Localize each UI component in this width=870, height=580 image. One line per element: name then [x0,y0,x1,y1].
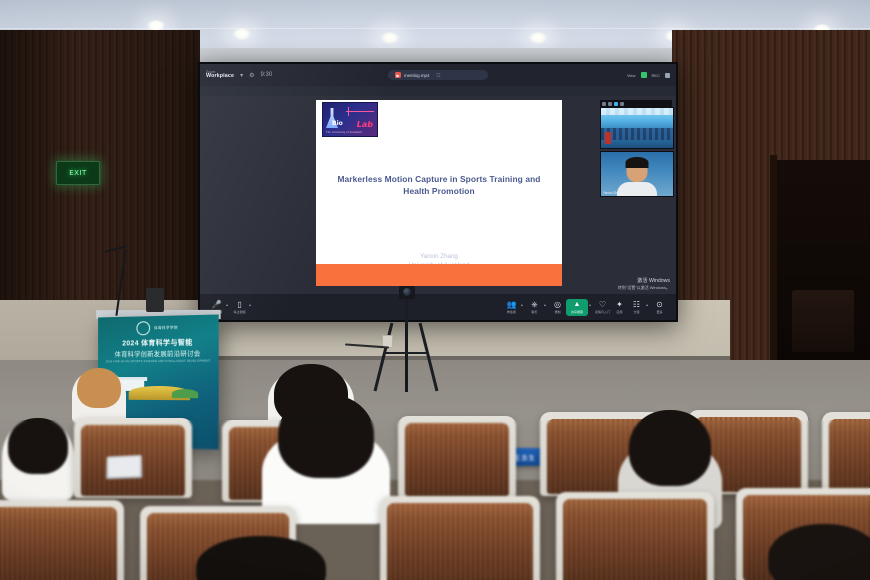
exit-sign: EXIT [56,161,100,185]
more-button[interactable]: ⊙ 更多 [651,301,668,314]
tile-room-audience [601,128,673,140]
auditorium-chair [556,492,714,580]
podium-emblem: 体育科学学院 [136,321,177,336]
share-screen-button[interactable]: ▲ 共享屏幕 [566,299,588,316]
record-button-label: 录制 [554,310,560,314]
zoom-application: Zoom Workplace ▾ ⚙ 9:30 ▶ meeting.mp4 ◻ … [200,64,676,320]
view-button[interactable]: View [627,73,636,78]
mute-chevron-icon[interactable]: ▴ [226,302,228,307]
zoom-meeting-toolbar: 🎤 取消静音 ▴ ▯ 停止视频 ▴ 👥 参会者 ▴ ⎈ 聊天 [200,294,676,320]
auditorium-chair [380,496,540,580]
audience-person [764,524,870,580]
chair-back-panel [0,507,117,580]
reactions-button-label: 表情与入门 [595,310,610,314]
tile-room-ceiling [601,108,673,115]
participants-button-label: 参会者 [507,310,516,314]
logo-waveform-shape [346,107,374,116]
share-screen-icon: ▲ [573,301,580,309]
exit-sign-label: EXIT [69,169,87,177]
slide-accent-band [316,264,562,286]
reactions-button[interactable]: ♡ 表情与入门 [594,301,611,314]
zoom-brand: Zoom Workplace [206,71,234,80]
record-indicator-icon [641,72,647,78]
ceiling-downlight [380,32,400,45]
auditorium-scene: EXIT Zoom Workplace ▾ ⚙ 9:30 ▶ meeting.m… [0,0,870,580]
audience-person [186,536,336,580]
fullscreen-icon[interactable] [665,73,670,78]
share-screen-button-label: 共享屏幕 [571,310,583,314]
watermark-line1: 激活 Windows [618,278,670,285]
apps-button-label: 应用 [616,310,622,314]
person-head [77,368,121,408]
podium-subject-line: 体育科学创新发展前沿研讨会 [98,348,219,358]
name-placard-text: 王吾生 [514,452,536,462]
ceiling-downlight [528,32,548,45]
auditorium-chair [822,412,870,496]
more-icon: ⊙ [656,301,663,309]
audience-person [2,420,74,500]
floor-speaker [146,288,164,312]
person-head [196,536,326,580]
gear-icon[interactable]: ⚙ [249,72,254,79]
chair-back-panel [829,419,870,494]
door-frame [770,155,777,363]
grid-view-icon[interactable] [608,102,612,106]
record-icon: ◎ [554,301,561,309]
share-chevron-icon[interactable]: ▴ [589,302,591,307]
person-head [629,410,711,486]
chevron-down-icon[interactable]: ▾ [240,72,243,79]
tripod-column [405,298,408,324]
watermark-line2: 转到"设置"以激活 Windows。 [618,285,670,290]
podium-year-line: 2024 体育科学与智能 [98,337,219,349]
slide-title: Markerless Motion Capture in Sports Trai… [330,174,548,198]
chair-back-panel [405,423,509,496]
presenter-tile[interactable]: Yanxin Zhang [600,151,674,197]
logo-name: Bio [332,120,343,127]
video-chevron-icon[interactable]: ▴ [249,302,251,307]
pin-icon[interactable] [620,102,624,106]
camera-icon: ▯ [237,301,241,309]
video-tile-strip: Yanxin Zhang [600,100,672,199]
tripod-spreader [386,352,426,354]
wall-wood-left [0,30,200,330]
chat-icon: ⎈ [531,301,537,309]
presentation-slide: Bio Lab The University of Auckland Marke… [316,100,562,286]
zoom-subbar [200,86,676,96]
projection-screen: Zoom Workplace ▾ ⚙ 9:30 ▶ meeting.mp4 ◻ … [198,62,678,322]
podium-english-line: 2024 FORUM ON SPORTS SCIENCE AND INTELLI… [98,358,219,363]
zoom-titlebar-right: View REC [627,72,670,78]
podium-emblem-text: 体育科学学院 [154,325,178,331]
doorway-chair [792,290,854,352]
logo-accent: Lab [357,120,373,129]
zoom-meeting-icon: ▶ [395,72,401,78]
chair-back-panel [563,499,707,580]
more-button-label: 更多 [656,310,662,314]
tripod-leg [405,322,408,392]
clock-label: 9:30 [260,72,272,78]
breakout-button-label: 分组 [633,310,639,314]
person-head [768,524,870,580]
chair-back-panel [387,503,533,580]
participants-chevron-icon[interactable]: ▴ [521,302,523,307]
apps-icon: ✦ [616,301,623,309]
chat-chevron-icon[interactable]: ▴ [544,302,546,307]
biomechanics-lab-logo-icon: Bio Lab The University of Auckland [322,102,378,137]
stage-edge [150,356,730,360]
minimize-icon[interactable] [602,102,606,106]
laptop-screen [108,457,140,477]
zoom-titlebar: Zoom Workplace ▾ ⚙ 9:30 ▶ meeting.mp4 ◻ … [200,64,676,86]
participants-button[interactable]: 👥 参会者 [503,301,520,314]
reactions-icon: ♡ [599,301,606,309]
breakout-chevron-icon[interactable]: ▴ [646,302,648,307]
speaker-view-icon[interactable] [614,102,618,106]
camera-lens-icon [403,288,411,296]
zoom-brand-line2: Workplace [206,74,234,79]
artwork-greenery [172,389,198,398]
tab-close-icon[interactable]: ◻ [436,72,440,78]
presenter-body [617,182,657,196]
zoom-tab-label: meeting.mp4 [404,73,429,78]
chat-button[interactable]: ⎈ 聊天 [526,301,543,314]
ceiling-downlight [232,28,252,41]
auditorium-chair [398,416,516,498]
zoom-meeting-tab[interactable]: ▶ meeting.mp4 ◻ [388,70,488,80]
video-button[interactable]: ▯ 停止视频 [231,301,248,314]
windows-activation-watermark: 激活 Windows 转到"设置"以激活 Windows。 [618,278,670,290]
person-head [278,394,374,478]
record-label: REC [652,73,660,78]
room-camera-tile[interactable] [600,107,674,149]
audience-laptop [106,455,142,479]
slide-author-name: Yanxin Zhang [330,252,548,261]
ceiling-rail [0,28,870,29]
video-button-label: 停止视频 [234,310,246,314]
tile-strip-controls[interactable] [600,100,672,107]
chat-button-label: 聊天 [531,310,537,314]
breakout-button[interactable]: ☷ 分组 [628,301,645,314]
record-button[interactable]: ◎ 录制 [549,301,566,314]
auditorium-chair [0,500,124,580]
breakout-icon: ☷ [633,301,640,309]
audience-person [72,370,126,424]
apps-button[interactable]: ✦ 应用 [611,301,628,314]
tile-room-banner [605,132,611,144]
zoom-share-stage: Bio Lab The University of Auckland Marke… [200,96,676,294]
mic-muted-icon: 🎤 [212,301,222,309]
participants-icon: 👥 [506,301,516,309]
person-head [8,418,68,474]
presenter-hair [626,157,649,168]
logo-tagline: The University of Auckland [326,131,362,134]
presenter-name-label: Yanxin Zhang [603,191,622,195]
university-seal-icon [136,321,150,335]
